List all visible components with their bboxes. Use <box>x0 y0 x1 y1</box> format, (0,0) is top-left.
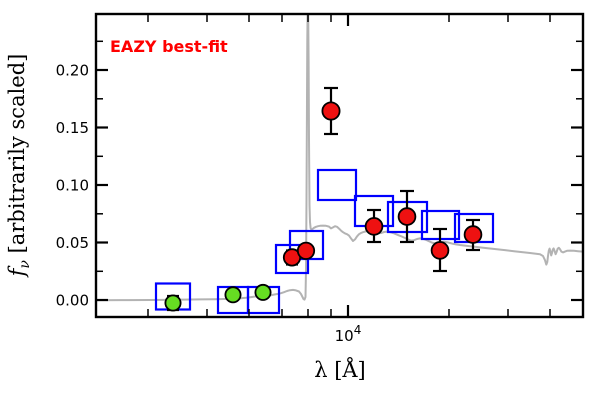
data-point-green <box>255 285 270 300</box>
y-axis-tick-labels: 0.20 0.15 0.10 0.05 0.00 <box>56 62 89 310</box>
x-axis-tick-labels: 104 <box>335 323 362 345</box>
x-axis-ticks <box>148 14 550 317</box>
x-axis-title: λ [Å] <box>314 357 366 382</box>
data-point-red <box>298 243 314 259</box>
y-tick-label: 0.20 <box>56 62 89 80</box>
x-tick-label: 104 <box>335 323 362 345</box>
y-tick-label: 0.00 <box>56 292 89 310</box>
data-point-red <box>366 210 383 242</box>
y-axis-title: fν [arbitrarily scaled] <box>5 54 33 279</box>
sed-figure: 0.20 0.15 0.10 0.05 0.00 104 λ [Å] fν [a… <box>0 0 600 400</box>
eazy-best-fit-annotation: EAZY best-fit <box>110 37 228 56</box>
sed-plot-canvas: 0.20 0.15 0.10 0.05 0.00 104 λ [Å] fν [a… <box>0 0 600 400</box>
axes-frame <box>96 14 583 317</box>
data-point-red <box>432 229 449 271</box>
data-point-red <box>322 88 339 134</box>
y-tick-label: 0.05 <box>56 234 89 252</box>
data-point-green <box>225 287 240 302</box>
y-tick-label: 0.15 <box>56 119 89 137</box>
model-spectrum-curve <box>96 14 583 300</box>
y-tick-label: 0.10 <box>56 177 89 195</box>
data-point-green <box>165 295 180 310</box>
y-axis-title-text: fν [arbitrarily scaled] <box>5 54 33 279</box>
model-box <box>318 170 356 200</box>
data-point-red <box>399 191 416 242</box>
